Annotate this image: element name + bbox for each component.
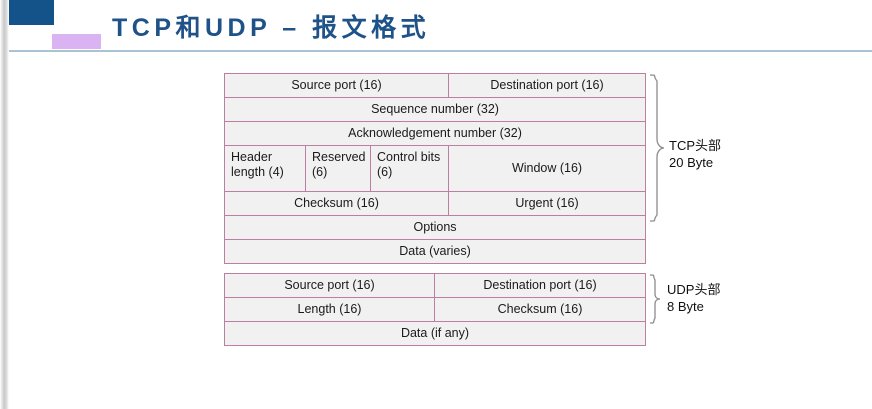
page-title: TCP和UDP – 报文格式 (112, 13, 430, 43)
tcp-cell-sequence-number: Sequence number (32) (225, 98, 646, 122)
tcp-header-annotation: TCP头部 20 Byte (669, 137, 721, 171)
udp-cell-destination-port: Destination port (16) (435, 274, 646, 298)
tcp-cell-checksum: Checksum (16) (225, 192, 449, 216)
tcp-cell-acknowledgement-number: Acknowledgement number (32) (225, 122, 646, 146)
tcp-annotation-line1: TCP头部 (669, 137, 721, 154)
udp-header-table: Source port (16) Destination port (16) L… (224, 273, 646, 346)
packet-format-diagram: Source port (16) Destination port (16) S… (0, 53, 872, 409)
tcp-cell-data: Data (varies) (225, 240, 646, 264)
title-divider (9, 50, 872, 52)
tcp-cell-reserved: Reserved (6) (306, 146, 371, 192)
header-lavender-accent-block (52, 34, 101, 49)
table-row: Options (225, 216, 646, 240)
header-blue-accent-block (9, 0, 54, 25)
table-row: Data (varies) (225, 240, 646, 264)
table-row: Length (16) Checksum (16) (225, 298, 646, 322)
tcp-cell-header-length: Header length (4) (225, 146, 306, 192)
udp-annotation-line1: UDP头部 (667, 281, 720, 298)
udp-cell-data: Data (if any) (225, 322, 646, 346)
tcp-header-table: Source port (16) Destination port (16) S… (224, 73, 646, 264)
table-row: Acknowledgement number (32) (225, 122, 646, 146)
udp-curly-brace-icon (648, 273, 662, 325)
udp-cell-source-port: Source port (16) (225, 274, 435, 298)
udp-cell-checksum: Checksum (16) (435, 298, 646, 322)
tcp-cell-options: Options (225, 216, 646, 240)
table-row: Sequence number (32) (225, 98, 646, 122)
tcp-cell-urgent: Urgent (16) (449, 192, 646, 216)
table-row: Data (if any) (225, 322, 646, 346)
tcp-cell-control-bits: Control bits (6) (371, 146, 449, 192)
table-row: Source port (16) Destination port (16) (225, 274, 646, 298)
tcp-curly-brace-icon (648, 73, 666, 223)
tcp-cell-source-port: Source port (16) (225, 74, 449, 98)
table-row: Header length (4) Reserved (6) Control b… (225, 146, 646, 192)
udp-cell-length: Length (16) (225, 298, 435, 322)
udp-annotation-line2: 8 Byte (667, 298, 720, 315)
udp-header-annotation: UDP头部 8 Byte (667, 281, 720, 315)
tcp-annotation-line2: 20 Byte (669, 154, 721, 171)
slide-header: TCP和UDP – 报文格式 (0, 0, 872, 53)
table-row: Source port (16) Destination port (16) (225, 74, 646, 98)
tcp-cell-window: Window (16) (449, 146, 646, 192)
table-row: Checksum (16) Urgent (16) (225, 192, 646, 216)
tcp-cell-destination-port: Destination port (16) (449, 74, 646, 98)
